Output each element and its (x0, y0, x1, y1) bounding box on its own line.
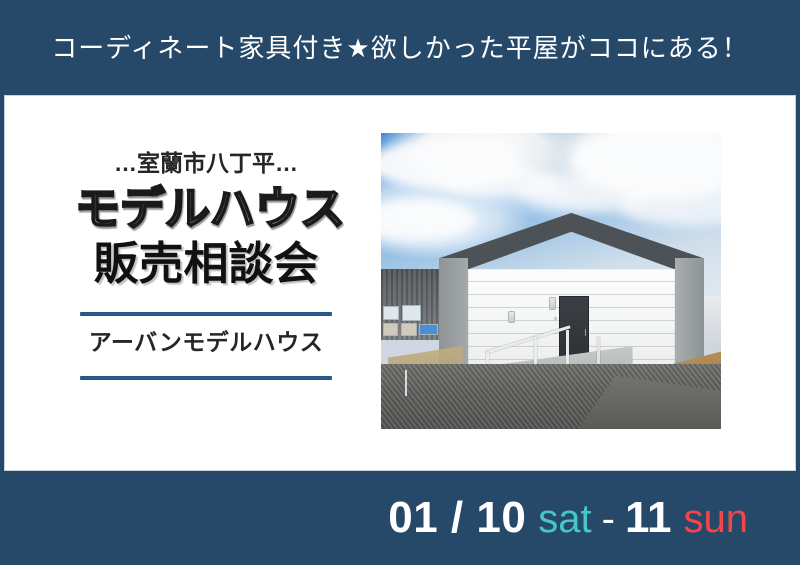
window (383, 323, 398, 336)
date-separator: - (602, 497, 615, 542)
window (419, 324, 437, 335)
window (383, 306, 399, 320)
photo-canvas (381, 133, 721, 429)
flyer-poster: コーディネート家具付き★欲しかった平屋がココにある！ …室蘭市八丁平… モデルハ… (0, 0, 800, 565)
date-second-day-number: 11 (625, 493, 672, 543)
brand-name: アーバンモデルハウス (75, 330, 337, 355)
event-date: 01 / 10 sat - 11 sun (388, 493, 748, 543)
locality-label: …室蘭市八丁平… (75, 151, 337, 176)
handrail-post (566, 330, 569, 368)
date-day1: sat (538, 497, 591, 542)
window (401, 323, 418, 336)
date-main: 01 / 10 (388, 493, 526, 543)
event-title-line1: モデルハウス (75, 182, 337, 235)
date-day2: sun (684, 497, 749, 542)
wall-right (675, 258, 704, 369)
house-structure (439, 213, 704, 370)
divider-bottom (80, 376, 332, 380)
wall-lamp-icon (549, 297, 556, 309)
divider-top (80, 312, 332, 316)
footer-band: 01 / 10 sat - 11 sun (0, 471, 800, 565)
door-handle (585, 329, 586, 336)
header-tagline: コーディネート家具付き★欲しかった平屋がココにある！ (51, 28, 749, 65)
event-title-line2: 販売相談会 (75, 237, 337, 290)
wall-lamp-icon (508, 311, 515, 323)
header-band: コーディネート家具付き★欲しかった平屋がココにある！ (0, 0, 800, 93)
window (402, 305, 420, 320)
event-text-block: …室蘭市八丁平… モデルハウス 販売相談会 アーバンモデルハウス (75, 151, 337, 380)
marker-post (405, 370, 407, 397)
model-house-photo (381, 133, 721, 429)
wall-plate (554, 317, 557, 320)
